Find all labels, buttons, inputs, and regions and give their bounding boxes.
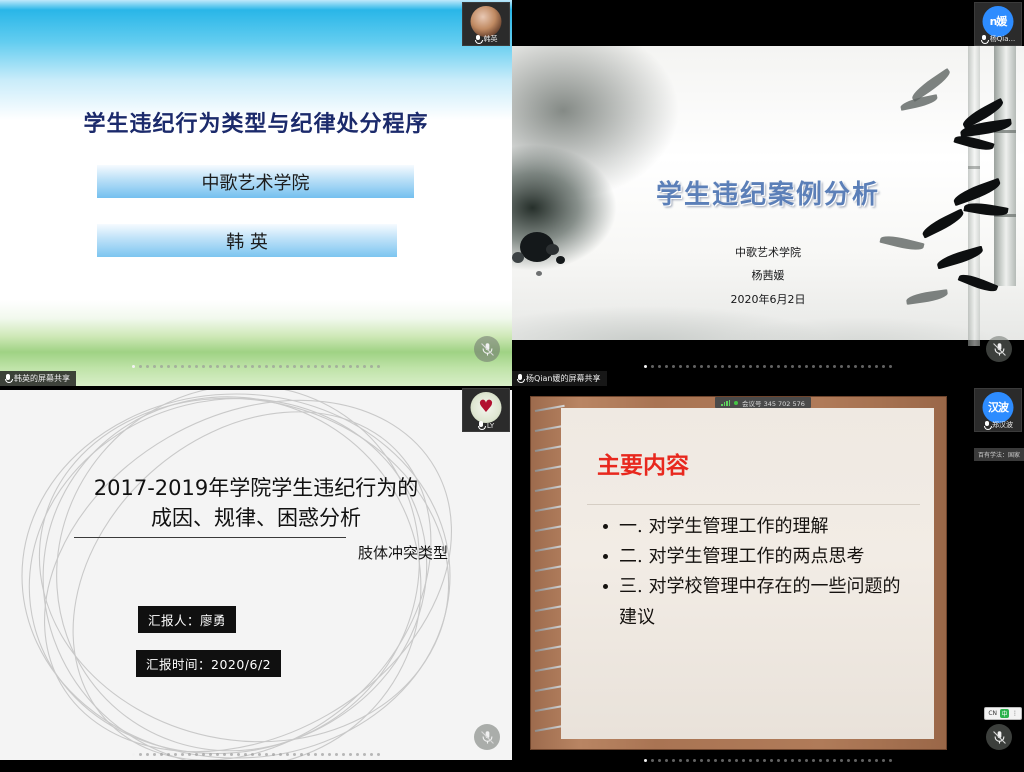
slide-title: 2017-2019年学院学生违纪行为的 成因、规律、困惑分析 [20,474,492,534]
slide-institution: 中歌艺术学院 [512,244,1024,260]
screen-share-label: 杨Qian媛的屏幕共享 [526,373,601,384]
slide-title: 学生违纪案例分析 [512,174,1024,211]
slide-page-indicator[interactable] [0,365,512,368]
slide-page-indicator[interactable] [512,759,1024,762]
meeting-id-label: 会议号 345 702 576 [742,398,805,408]
participant-footer: 韩英 [463,34,509,44]
participant-tile[interactable]: 韩英 [462,2,510,46]
microphone-icon [4,374,11,383]
slide-page-indicator[interactable] [512,365,1024,368]
ime-mode-label[interactable]: CN [988,710,997,717]
slide-canvas: 2017-2019年学院学生违纪行为的 成因、规律、困惑分析 肢体冲突类型 汇报… [0,390,512,760]
mute-button[interactable] [986,724,1012,750]
participant-tile[interactable]: LY [462,388,510,432]
ime-language-icon[interactable]: 中 [1000,709,1009,718]
slide-bullet-list: 一. 对学生管理工作的理解 二. 对学生管理工作的两点思考 三. 对学校管理中存… [619,512,916,633]
screen-share-label-bar: 韩英的屏幕共享 [0,371,76,386]
notebook-frame: 主要内容 一. 对学生管理工作的理解 二. 对学生管理工作的两点思考 三. 对学… [530,396,947,750]
slide-date: 2020年6月2日 [512,291,1024,307]
participant-name: 杨Qia... [990,34,1015,44]
participant-name: LY [487,422,494,430]
avatar [471,6,502,37]
ime-menu-icon[interactable]: ⋮ [1012,710,1018,717]
mute-button[interactable] [474,336,500,362]
avatar: n媛 [983,6,1014,37]
slide-title-line-2: 成因、规律、困惑分析 [20,504,492,534]
participant-footer: LY [463,421,509,430]
slide-chip-presenter: 汇报人：廖勇 [138,606,236,633]
participant-tile[interactable]: 汉波 郑汉波 [974,388,1022,432]
slide-subtitle: 肢体冲突类型 [0,542,448,563]
slide-heading: 主要内容 [597,446,689,480]
ime-toolbar[interactable]: CN 中 ⋮ [984,707,1022,720]
slide-band-presenter: 韩 英 [97,224,397,257]
recording-dot-icon [734,401,738,405]
video-panel-top-left[interactable]: 学生违纪行为类型与纪律处分程序 中歌艺术学院 韩 英 韩英 [0,0,512,386]
list-item: 二. 对学生管理工作的两点思考 [619,542,916,572]
list-item: 三. 对学校管理中存在的一些问题的建议 [619,572,916,632]
bamboo-node [968,166,980,169]
slide-page-indicator[interactable] [0,753,512,756]
slide-title: 学生违纪行为类型与纪律处分程序 [0,106,512,138]
screen-share-label-bar: 杨Qian媛的屏幕共享 [512,371,607,386]
participant-tile[interactable]: n媛 杨Qia... [974,2,1022,46]
avatar [471,392,502,423]
microphone-muted-icon [475,35,482,44]
video-panel-bottom-right[interactable]: 会议号 345 702 576 主要内容 [512,386,1024,772]
slide-canvas: 会议号 345 702 576 主要内容 [512,386,1024,772]
slide-presenter: 杨茜媛 [512,267,1024,283]
slide-title-line-1: 2017-2019年学院学生违纪行为的 [20,474,492,504]
screen-share-label: 韩英的屏幕共享 [14,373,70,384]
mute-button[interactable] [474,724,500,750]
participant-footer: 郑汉波 [975,420,1021,430]
heading-divider [587,504,920,505]
microphone-icon [516,374,523,383]
list-item: 一. 对学生管理工作的理解 [619,512,916,542]
video-grid: 学生违纪行为类型与纪律处分程序 中歌艺术学院 韩 英 韩英 [0,0,1024,772]
signal-strength-icon [721,400,730,406]
meeting-id-bar: 会议号 345 702 576 [715,397,811,408]
video-panel-bottom-left[interactable]: 2017-2019年学院学生违纪行为的 成因、规律、困惑分析 肢体冲突类型 汇报… [0,386,512,772]
slide-background-inkwash: 学生违纪案例分析 中歌艺术学院 杨茜媛 2020年6月2日 [512,46,1024,340]
microphone-muted-icon [981,35,988,44]
bamboo-leaf [920,208,966,238]
title-underline [74,537,346,538]
slide-band-institution: 中歌艺术学院 [97,165,414,198]
participant-footer: 杨Qia... [975,34,1021,44]
avatar: 汉波 [983,392,1014,423]
video-panel-top-right[interactable]: 学生违纪案例分析 中歌艺术学院 杨茜媛 2020年6月2日 n媛 杨Qia... [512,0,1024,386]
participant-name: 韩英 [484,34,498,44]
microphone-muted-icon [983,421,990,430]
decorative-circles [0,390,512,760]
slide-chip-date: 汇报时间：2020/6/2 [136,650,281,677]
participant-name: 郑汉波 [992,420,1013,430]
notebook-page: 主要内容 一. 对学生管理工作的理解 二. 对学生管理工作的两点思考 三. 对学… [561,408,934,739]
mute-button[interactable] [986,336,1012,362]
microphone-muted-icon [478,421,485,430]
side-notification-label: 百有学法：国家 [974,448,1024,461]
